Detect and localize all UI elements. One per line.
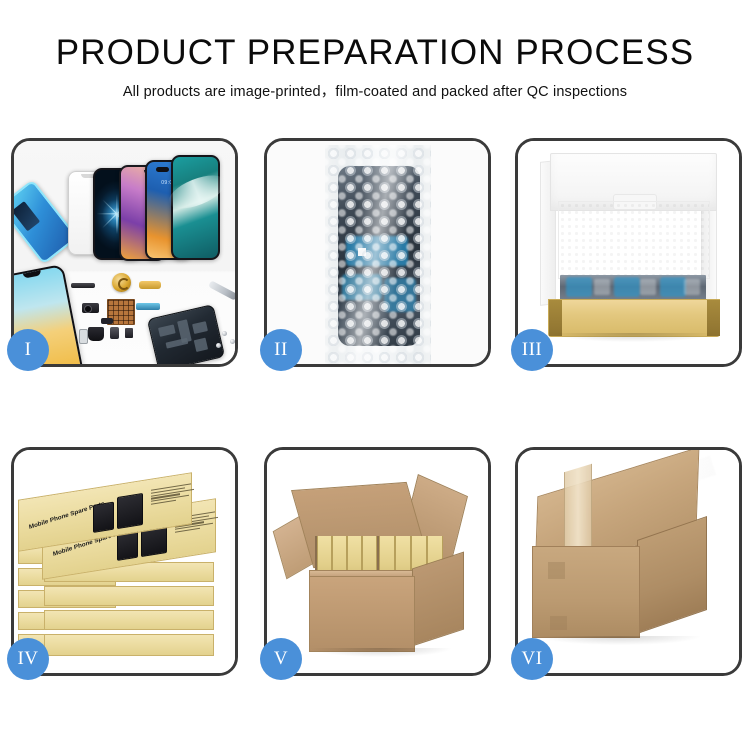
bracket-part bbox=[101, 318, 113, 324]
header: PRODUCT PREPARATION PROCESS All products… bbox=[0, 0, 750, 100]
step-badge-5: V bbox=[260, 638, 302, 680]
retail-box bbox=[44, 586, 214, 606]
copper-coil-part bbox=[112, 273, 131, 292]
packed-part-blue bbox=[660, 277, 686, 297]
packed-part-blue bbox=[566, 277, 592, 297]
box-front-panel bbox=[548, 299, 720, 337]
chassis-pad bbox=[194, 338, 208, 352]
retail-box-thumbnail bbox=[93, 502, 114, 533]
carton-front-face bbox=[309, 576, 415, 652]
phone-notch bbox=[156, 167, 169, 172]
step-badge-4: IV bbox=[7, 638, 49, 680]
step-panel-4[interactable]: Mobile Phone Spare Parts Mobile Phone Sp… bbox=[11, 447, 238, 676]
step-photo-1: 09:08 bbox=[14, 141, 235, 364]
step-grid: 09:08 bbox=[11, 138, 742, 683]
chassis-pad bbox=[158, 324, 176, 336]
carton-shadow bbox=[311, 648, 451, 657]
spare-parts-cluster bbox=[66, 271, 235, 364]
step-photo-6 bbox=[518, 450, 739, 673]
carton-shadow bbox=[540, 636, 700, 645]
wallpaper-ray bbox=[116, 214, 117, 234]
step-photo-3 bbox=[518, 141, 739, 364]
step-photo-4: Mobile Phone Spare Parts Mobile Phone Sp… bbox=[14, 450, 235, 673]
wallpaper-swirl bbox=[164, 169, 229, 216]
product-preparation-infographic: PRODUCT PREPARATION PROCESS All products… bbox=[0, 0, 750, 750]
packed-part-light bbox=[640, 279, 656, 295]
plastic-sheen bbox=[325, 145, 431, 364]
step-panel-2[interactable]: II bbox=[264, 138, 491, 367]
packed-part-blue bbox=[614, 277, 640, 297]
step-panel-3[interactable]: III bbox=[515, 138, 742, 367]
vibrator-part bbox=[110, 327, 119, 339]
page-subtitle: All products are image-printed，film-coat… bbox=[0, 70, 750, 100]
phone-display-teal bbox=[171, 155, 220, 260]
step-panel-1[interactable]: 09:08 bbox=[11, 138, 238, 367]
wallpaper-ray bbox=[97, 213, 117, 214]
camera-module-part bbox=[82, 303, 99, 313]
foam-liner bbox=[558, 201, 710, 279]
retail-box bbox=[44, 610, 214, 630]
retail-box bbox=[44, 634, 214, 656]
button-part bbox=[125, 328, 133, 338]
speaker-part bbox=[88, 327, 104, 341]
retail-box-thumbnail bbox=[117, 493, 143, 529]
connector-part bbox=[79, 329, 88, 344]
step-photo-5 bbox=[267, 450, 488, 673]
step-badge-6: VI bbox=[511, 638, 553, 680]
flex-cable-blue bbox=[136, 303, 160, 310]
packed-part-light bbox=[684, 279, 700, 295]
carton-patch bbox=[548, 562, 565, 579]
packed-part-light bbox=[594, 279, 610, 295]
carton-patch bbox=[550, 616, 567, 630]
step-badge-1: I bbox=[7, 329, 49, 371]
step-panel-5[interactable]: V bbox=[264, 447, 491, 676]
packed-parts-row bbox=[560, 275, 706, 301]
step-badge-2: II bbox=[260, 329, 302, 371]
screw-part bbox=[222, 331, 227, 336]
screw-part bbox=[230, 339, 235, 344]
pry-tool-part bbox=[208, 280, 235, 300]
carton-front-face bbox=[532, 546, 640, 638]
screw-part bbox=[216, 343, 221, 348]
page-title: PRODUCT PREPARATION PROCESS bbox=[0, 0, 750, 70]
step-panel-6[interactable]: VI bbox=[515, 447, 742, 676]
chassis-pad bbox=[192, 321, 208, 334]
flex-cable-gold bbox=[139, 281, 161, 289]
antenna-bar-part bbox=[71, 283, 95, 288]
box-shadow bbox=[552, 333, 714, 342]
chassis-pad bbox=[166, 338, 189, 349]
step-photo-2 bbox=[267, 141, 488, 364]
phone-chassis-part bbox=[147, 304, 225, 364]
step-badge-3: III bbox=[511, 329, 553, 371]
